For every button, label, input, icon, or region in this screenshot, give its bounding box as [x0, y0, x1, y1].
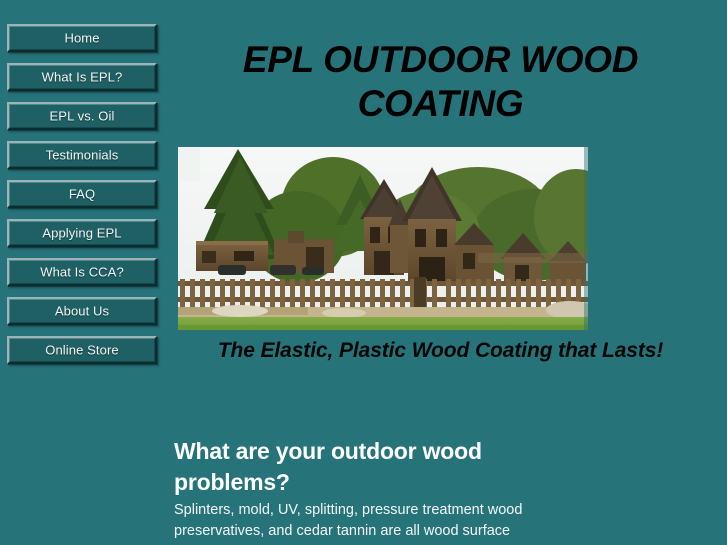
sidebar-item-applying-epl[interactable]: Applying EPL [7, 219, 157, 247]
sidebar-item-label: About Us [9, 303, 155, 318]
sidebar-item-online-store[interactable]: Online Store [7, 336, 157, 364]
section-heading: What are your outdoor wood problems? [174, 436, 554, 498]
body-paragraph: Splinters, mold, UV, splitting, pressure… [174, 500, 574, 542]
sidebar-item-label: Home [9, 30, 155, 45]
sidebar-item-label: Testimonials [9, 147, 155, 162]
sidebar-item-epl-vs-oil[interactable]: EPL vs. Oil [7, 102, 157, 130]
sidebar-item-label: Applying EPL [9, 225, 155, 240]
sidebar-item-label: EPL vs. Oil [9, 108, 155, 123]
sidebar-item-testimonials[interactable]: Testimonials [7, 141, 157, 169]
sidebar-item-label: FAQ [9, 186, 155, 201]
sidebar-item-label: What Is CCA? [9, 264, 155, 279]
playground-photo-illustration [178, 147, 588, 330]
sidebar-item-label: Online Store [9, 342, 155, 357]
page-title: EPL OUTDOOR WOOD COATING [168, 38, 713, 126]
hero-photo [178, 147, 588, 330]
nav-button-list: Home What Is EPL? EPL vs. Oil Testimonia… [7, 24, 157, 375]
main-content: EPL OUTDOOR WOOD COATING [163, 0, 727, 545]
sidebar-item-about-us[interactable]: About Us [7, 297, 157, 325]
sidebar-item-label: What Is EPL? [9, 69, 155, 84]
sidebar-item-home[interactable]: Home [7, 24, 157, 52]
sidebar-item-faq[interactable]: FAQ [7, 180, 157, 208]
sidebar-item-what-is-epl[interactable]: What Is EPL? [7, 63, 157, 91]
sidebar-item-what-is-cca[interactable]: What Is CCA? [7, 258, 157, 286]
tagline: The Elastic, Plastic Wood Coating that L… [168, 335, 713, 366]
sidebar-nav: Home What Is EPL? EPL vs. Oil Testimonia… [0, 0, 163, 545]
